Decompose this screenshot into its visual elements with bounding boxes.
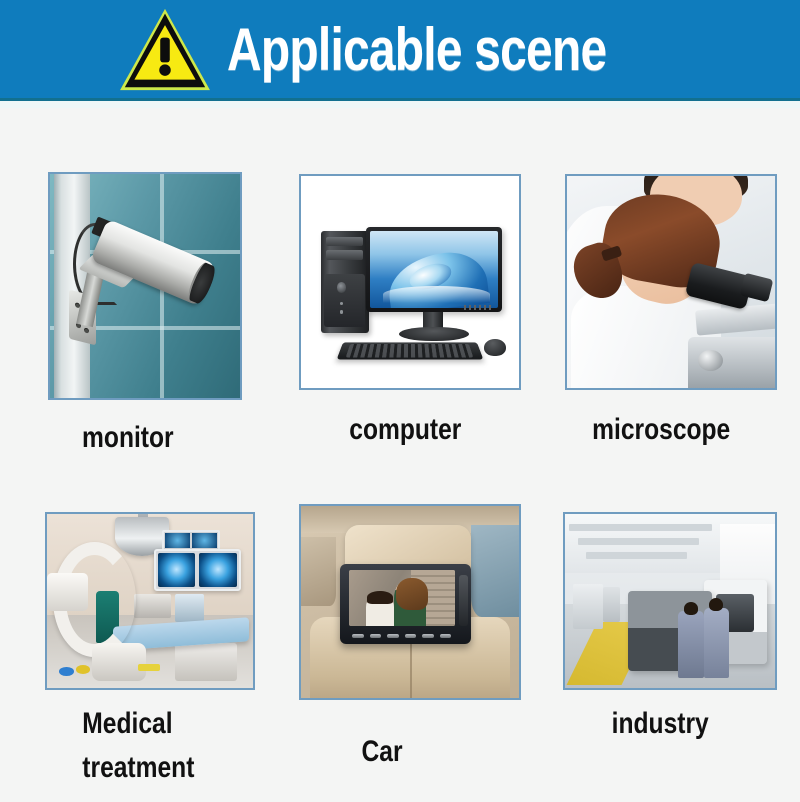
equipment-cart-2 (175, 594, 204, 622)
computer-monitor (366, 227, 501, 312)
scene-item-medical[interactable]: Medical treatment (45, 512, 257, 802)
page-title: Applicable scene (227, 20, 606, 80)
headrest-dvd-player (340, 564, 471, 645)
monitor-stand-base (399, 327, 469, 342)
medical-scan-monitors (154, 549, 240, 591)
scene-image-computer (299, 174, 521, 390)
scene-label-computer: computer (349, 408, 461, 452)
scene-image-microscope (565, 174, 777, 390)
scene-image-monitor (48, 172, 242, 400)
car-window (471, 525, 519, 617)
scene-item-microscope[interactable]: microscope (565, 174, 779, 474)
scene-item-computer[interactable]: computer (299, 174, 523, 474)
monitor-screen-wave-wallpaper (370, 231, 497, 308)
scene-image-car (299, 504, 521, 700)
car-window-left (301, 537, 336, 606)
scene-item-industry[interactable]: industry (563, 512, 779, 802)
dvd-side-panel (459, 575, 468, 627)
computer-tower (321, 231, 369, 333)
overhead-display-small (162, 530, 220, 551)
dvd-control-buttons[interactable] (352, 631, 451, 641)
scene-image-medical (45, 512, 255, 690)
factory-worker-1 (678, 611, 703, 677)
scene-label-monitor: monitor (82, 416, 174, 460)
mouse (484, 339, 506, 356)
dvd-screen (349, 570, 455, 626)
header-banner: Applicable scene (0, 0, 800, 100)
banner-bottom-glow (0, 101, 800, 108)
scene-item-car[interactable]: Car (299, 504, 523, 794)
scene-label-car: Car (362, 730, 403, 774)
warning-triangle-icon (117, 6, 213, 94)
focus-knob (698, 350, 723, 371)
scene-grid: monitor (0, 108, 800, 800)
scene-label-medical: Medical treatment (82, 702, 194, 789)
equipment-cart (134, 594, 171, 618)
scene-item-monitor[interactable]: monitor (48, 172, 244, 472)
distant-machine-2 (603, 587, 620, 622)
scene-label-industry: industry (612, 702, 709, 746)
scene-label-microscope: microscope (592, 408, 730, 452)
distant-machine (573, 584, 602, 629)
monitor-bezel-buttons (464, 305, 494, 309)
keyboard (337, 343, 483, 360)
scene-image-industry (563, 512, 777, 690)
factory-worker-2 (704, 608, 729, 678)
